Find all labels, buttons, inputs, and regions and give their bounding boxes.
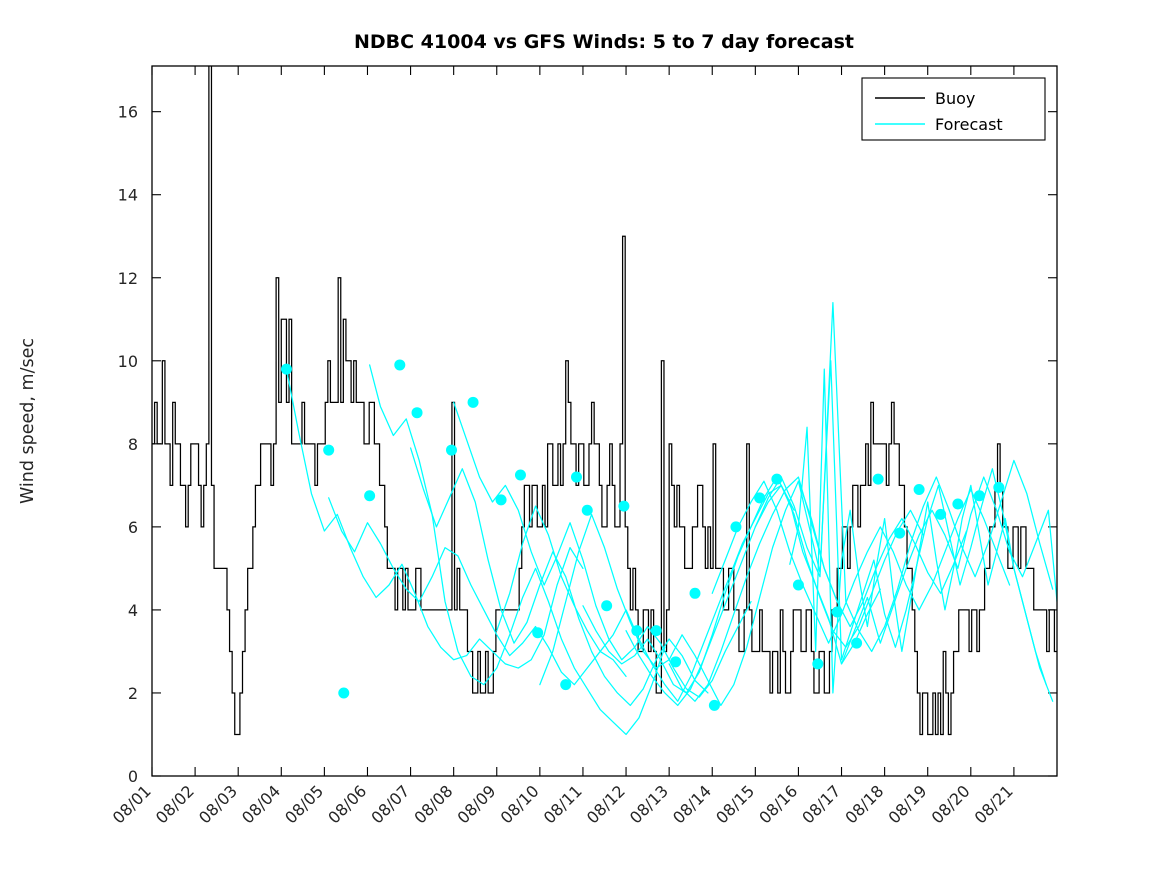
forecast-marker-point xyxy=(281,364,292,375)
legend-label-forecast: Forecast xyxy=(935,115,1003,134)
forecast-marker-point xyxy=(571,472,582,483)
y-tick-label: 12 xyxy=(118,269,138,288)
forecast-marker-point xyxy=(394,359,405,370)
forecast-marker-point xyxy=(974,490,985,501)
forecast-marker-point xyxy=(532,627,543,638)
forecast-marker-point xyxy=(873,474,884,485)
legend-label-buoy: Buoy xyxy=(935,89,975,108)
chart-title: NDBC 41004 vs GFS Winds: 5 to 7 day fore… xyxy=(354,31,854,53)
forecast-marker-point xyxy=(812,658,823,669)
forecast-marker-point xyxy=(651,625,662,636)
forecast-marker-point xyxy=(851,638,862,649)
forecast-marker-point xyxy=(730,521,741,532)
y-tick-label: 16 xyxy=(118,103,138,122)
forecast-marker-point xyxy=(709,700,720,711)
forecast-marker-point xyxy=(338,687,349,698)
forecast-marker-point xyxy=(670,656,681,667)
forecast-marker-point xyxy=(894,528,905,539)
y-tick-label: 10 xyxy=(118,352,138,371)
y-tick-label: 8 xyxy=(128,435,138,454)
forecast-marker-point xyxy=(560,679,571,690)
y-tick-label: 0 xyxy=(128,767,138,786)
forecast-marker-point xyxy=(793,580,804,591)
y-tick-label: 14 xyxy=(118,186,138,205)
forecast-marker-point xyxy=(446,445,457,456)
forecast-marker-point xyxy=(993,482,1004,493)
forecast-marker-point xyxy=(631,625,642,636)
forecast-marker-point xyxy=(952,499,963,510)
forecast-marker-point xyxy=(412,407,423,418)
forecast-marker-point xyxy=(754,492,765,503)
forecast-marker-point xyxy=(771,474,782,485)
y-axis-label: Wind speed, m/sec xyxy=(18,338,38,504)
forecast-marker-point xyxy=(364,490,375,501)
forecast-marker-point xyxy=(515,469,526,480)
forecast-marker-point xyxy=(468,397,479,408)
forecast-marker-point xyxy=(601,600,612,611)
y-tick-label: 6 xyxy=(128,518,138,537)
forecast-marker-point xyxy=(914,484,925,495)
forecast-marker-point xyxy=(323,445,334,456)
y-tick-label: 4 xyxy=(128,601,138,620)
chart-legend[interactable]: Buoy Forecast xyxy=(862,78,1045,140)
forecast-marker-point xyxy=(690,588,701,599)
forecast-marker-point xyxy=(582,505,593,516)
forecast-marker-point xyxy=(618,501,629,512)
forecast-marker-point xyxy=(935,509,946,520)
wind-speed-chart: NDBC 41004 vs GFS Winds: 5 to 7 day fore… xyxy=(0,0,1167,875)
y-tick-label: 2 xyxy=(128,684,138,703)
forecast-marker-point xyxy=(832,606,843,617)
chart-figure: NDBC 41004 vs GFS Winds: 5 to 7 day fore… xyxy=(0,0,1167,875)
forecast-marker-point xyxy=(496,494,507,505)
